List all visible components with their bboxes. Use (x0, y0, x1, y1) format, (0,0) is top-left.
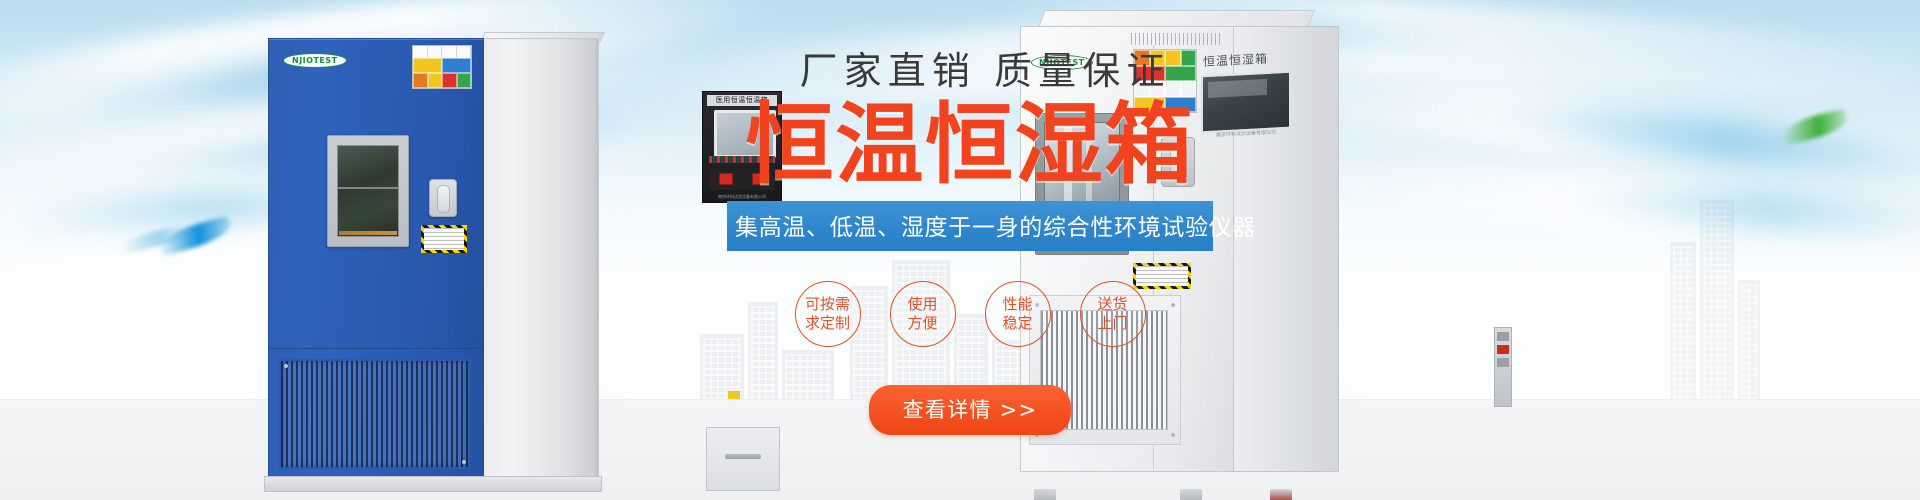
feature-badge-delivery[interactable]: 送货 上门 (1080, 281, 1146, 347)
left-chamber-warning-label (412, 45, 472, 89)
badge-line-2: 方便 (907, 314, 937, 333)
left-chamber-door-handle (429, 179, 457, 217)
badge-line-2: 求定制 (805, 314, 850, 333)
banner-tagline: 厂家直销 质量保证 (690, 40, 1280, 95)
left-chamber-base-unit (268, 348, 484, 482)
badge-line-1: 性能 (1002, 295, 1032, 314)
badge-line-1: 使用 (907, 295, 937, 314)
badge-line-2: 稳定 (1002, 314, 1032, 333)
banner-copy-block: 厂家直销 质量保证 恒温恒湿箱 集高温、低温、湿度于一身的综合性环境试验仪器 可… (660, 40, 1280, 435)
left-chamber-viewing-window (327, 135, 409, 247)
left-chamber-plinth (264, 476, 602, 492)
banner-headline: 恒温恒湿箱 (660, 99, 1280, 191)
left-chamber-brand-logo: NJIOTEST (283, 53, 347, 68)
feature-badge-list: 可按需 求定制 使用 方便 性能 稳定 送货 上门 (660, 281, 1280, 347)
right-chamber-feet (1020, 488, 1340, 500)
feature-badge-stable[interactable]: 性能 稳定 (985, 281, 1051, 347)
cta-container: 查看详情 >> (660, 385, 1280, 435)
badge-line-2: 上门 (1097, 314, 1127, 333)
left-chamber-side-panel: 医用恒温恒温箱 南京环科试验设备有限公司 (480, 38, 599, 488)
product-image-left: 医用恒温恒温箱 南京环科试验设备有限公司 NJIOTEST (268, 28, 598, 488)
banner-subtitle-bar: 集高温、低温、湿度于一身的综合性环境试验仪器 (727, 201, 1213, 251)
right-chamber-top-bevel (1038, 10, 1315, 27)
badge-line-1: 可按需 (805, 295, 850, 314)
promo-banner: 医用恒温恒温箱 南京环科试验设备有限公司 NJIOTEST (0, 0, 1920, 500)
badge-line-1: 送货 (1097, 295, 1127, 314)
left-chamber-ventilation-grille (279, 359, 471, 469)
city-skyline-decoration-right (1670, 200, 1820, 410)
right-chamber-side-controls (1494, 327, 1512, 407)
view-details-button[interactable]: 查看详情 >> (869, 385, 1072, 435)
left-chamber-hazard-sticker (421, 225, 467, 253)
feature-badge-custom[interactable]: 可按需 求定制 (795, 281, 861, 347)
left-chamber-glass (337, 145, 399, 237)
feature-badge-easy-use[interactable]: 使用 方便 (890, 281, 956, 347)
left-chamber-door: NJIOTEST (268, 38, 484, 350)
left-chamber-drawer (706, 427, 780, 491)
